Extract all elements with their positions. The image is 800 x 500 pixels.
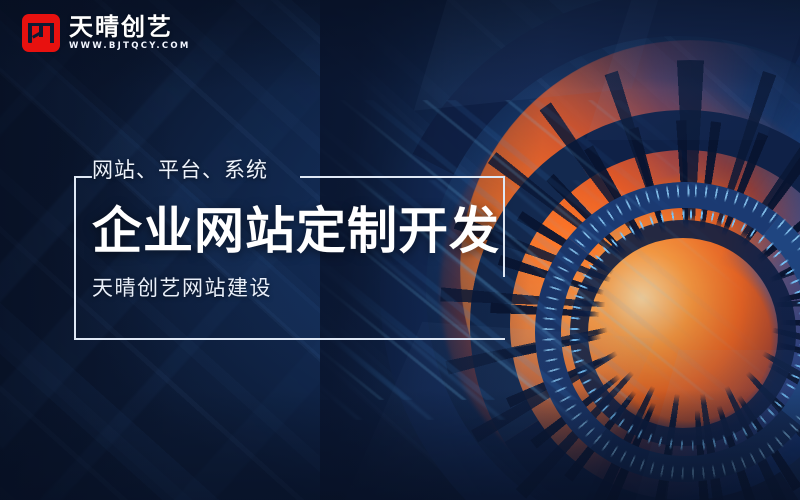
hero-headline: 企业网站定制开发 (92, 205, 500, 258)
website-url: WWW.BJTQCY.COM (69, 42, 191, 51)
hero-eyebrow: 网站、平台、系统 (92, 160, 500, 181)
frame-left-rule (74, 176, 76, 340)
company-name: 天晴创艺 (69, 15, 191, 39)
frame-bottom-rule (74, 338, 505, 340)
promo-banner: 天晴创艺 WWW.BJTQCY.COM 网站、平台、系统 企业网站定制开发 天晴… (0, 0, 800, 500)
frame-right-rule (503, 176, 505, 277)
company-monogram-icon (22, 14, 60, 52)
brand-logo[interactable]: 天晴创艺 WWW.BJTQCY.COM (22, 14, 191, 52)
frame-top-stub (74, 176, 92, 178)
brand-logo-text: 天晴创艺 WWW.BJTQCY.COM (69, 15, 191, 51)
hero-tagline: 天晴创艺网站建设 (92, 278, 500, 299)
hero-copy: 网站、平台、系统 企业网站定制开发 天晴创艺网站建设 (92, 160, 500, 299)
